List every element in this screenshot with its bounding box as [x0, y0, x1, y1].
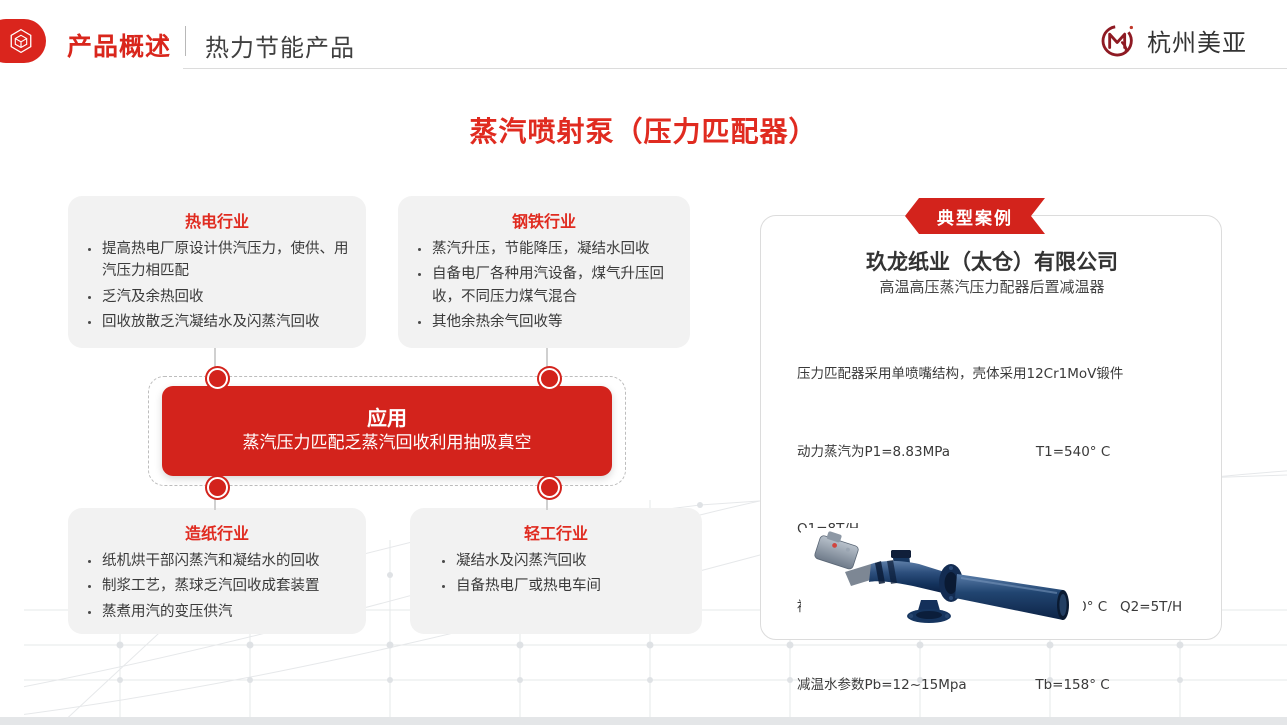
- header-rule: [183, 68, 1287, 69]
- spec-row: 减温水参数Pb=12~15Mpa Tb=158° C: [797, 673, 1207, 699]
- list-item: 其他余热余气回收等: [412, 311, 676, 333]
- industry-card-title: 钢铁行业: [412, 208, 676, 232]
- list-item: 自备电厂各种用汽设备，煤气升压回收，不同压力煤气混合: [412, 263, 676, 308]
- case-subtitle: 高温高压蒸汽压力配器后置减温器: [761, 276, 1223, 297]
- industry-card-list: 凝结水及闪蒸汽回收 自备热电厂或热电车间: [424, 550, 688, 598]
- industry-card-steel: 钢铁行业 蒸汽升压，节能降压，凝结水回收 自备电厂各种用汽设备，煤气升压回收，不…: [398, 196, 690, 348]
- list-item: 回收放散乏汽凝结水及闪蒸汽回收: [82, 311, 352, 333]
- hexagon-cube-icon: [8, 28, 34, 54]
- industry-card-list: 蒸汽升压，节能降压，凝结水回收 自备电厂各种用汽设备，煤气升压回收，不同压力煤气…: [412, 238, 676, 334]
- header-subtitle: 热力节能产品: [205, 28, 355, 63]
- list-item: 自备热电厂或热电车间: [424, 575, 688, 597]
- connector-node: [207, 477, 228, 498]
- list-item: 提高热电厂原设计供汽压力，使供、用汽压力相匹配: [82, 238, 352, 283]
- slide: 产品概述 热力节能产品 杭州美亚 蒸汽喷射泵（压力匹配器） 热电行业 提高热电厂…: [0, 0, 1287, 725]
- decor-left-mask: [0, 597, 24, 717]
- industry-card-list: 纸机烘干部闪蒸汽和凝结水的回收 制浆工艺，蒸球乏汽回收成套装置 蒸煮用汽的变压供…: [82, 550, 352, 623]
- case-study-card: 玖龙纸业（太仓）有限公司 高温高压蒸汽压力配器后置减温器 压力匹配器采用单喷嘴结…: [760, 215, 1222, 640]
- list-item: 乏汽及余热回收: [82, 286, 352, 308]
- product-photo: [801, 528, 1083, 630]
- case-company-name: 玖龙纸业（太仓）有限公司: [761, 246, 1223, 276]
- industry-card-title: 轻工行业: [424, 520, 688, 544]
- logo-pill: [0, 19, 46, 63]
- brand-logo: 杭州美亚: [1098, 20, 1247, 60]
- list-item: 蒸汽升压，节能降压，凝结水回收: [412, 238, 676, 260]
- case-spec-list: 压力匹配器采用单喷嘴结构，壳体采用12Cr1MoV锻件 动力蒸汽为P1=8.83…: [797, 310, 1207, 725]
- industry-card-title: 热电行业: [82, 208, 352, 232]
- connector-node: [207, 368, 228, 389]
- list-item: 凝结水及闪蒸汽回收: [424, 550, 688, 572]
- industry-card-papermaking: 造纸行业 纸机烘干部闪蒸汽和凝结水的回收 制浆工艺，蒸球乏汽回收成套装置 蒸煮用…: [68, 508, 366, 634]
- list-item: 纸机烘干部闪蒸汽和凝结水的回收: [82, 550, 352, 572]
- application-diagram: 热电行业 提高热电厂原设计供汽压力，使供、用汽压力相匹配 乏汽及余热回收 回收放…: [60, 190, 720, 650]
- industry-card-list: 提高热电厂原设计供汽压力，使供、用汽压力相匹配 乏汽及余热回收 回收放散乏汽凝结…: [82, 238, 352, 334]
- page-title: 产品概述: [67, 27, 171, 63]
- industry-card-thermal-power: 热电行业 提高热电厂原设计供汽压力，使供、用汽压力相匹配 乏汽及余热回收 回收放…: [68, 196, 366, 348]
- brand-name: 杭州美亚: [1147, 23, 1247, 58]
- slide-heading: 蒸汽喷射泵（压力匹配器）: [0, 110, 1287, 150]
- connector-node: [539, 477, 560, 498]
- header: 产品概述 热力节能产品 杭州美亚: [0, 0, 1287, 80]
- list-item: 蒸煮用汽的变压供汽: [82, 601, 352, 623]
- application-caption: 蒸汽压力匹配乏蒸汽回收利用抽吸真空: [243, 431, 532, 457]
- industry-card-title: 造纸行业: [82, 520, 352, 544]
- industry-card-light-industry: 轻工行业 凝结水及闪蒸汽回收 自备热电厂或热电车间: [410, 508, 702, 634]
- header-divider: [185, 26, 186, 56]
- spec-row: 动力蒸汽为P1=8.83MPa T1=540° C: [797, 440, 1207, 466]
- application-center-box: 应用 蒸汽压力匹配乏蒸汽回收利用抽吸真空: [162, 386, 612, 476]
- list-item: 制浆工艺，蒸球乏汽回收成套装置: [82, 575, 352, 597]
- meiya-circle-m-logo-icon: [1098, 20, 1138, 60]
- connector-node: [539, 368, 560, 389]
- case-banner-label: 典型案例: [905, 198, 1045, 234]
- spec-row: 压力匹配器采用单喷嘴结构，壳体采用12Cr1MoV锻件: [797, 362, 1207, 388]
- case-banner: 典型案例: [905, 198, 1045, 234]
- application-heading: 应用: [367, 405, 407, 431]
